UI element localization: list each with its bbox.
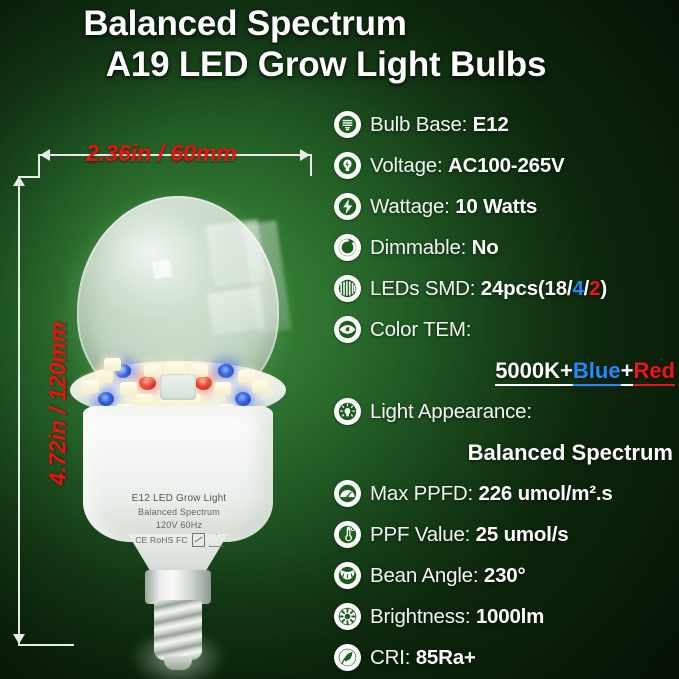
spec-label: Dimmable: No bbox=[370, 236, 499, 260]
width-arrow-right bbox=[300, 149, 310, 161]
height-arrow-bottom bbox=[13, 634, 25, 644]
height-dim-line bbox=[18, 176, 20, 646]
spec-row-wattage: Wattage: 10 Watts bbox=[334, 186, 679, 227]
spec-label: Brightness: 1000lm bbox=[370, 605, 544, 629]
height-arrow-top bbox=[13, 176, 25, 186]
spec-row-color-tem: Color TEM: bbox=[334, 309, 679, 350]
spec-label: LEDs SMD: 24pcs(18/4/2) bbox=[370, 277, 607, 301]
spec-label: PPF Value: 25 umol/s bbox=[370, 523, 568, 547]
width-dimension-label: 2.36in / 60mm bbox=[86, 140, 237, 167]
spec-row-voltage: Voltage: AC100-265V bbox=[334, 145, 679, 186]
spec-label: Voltage: AC100-265V bbox=[370, 154, 565, 178]
spec-row-max-ppfd: Max PPFD: 226 umol/m².s bbox=[334, 473, 679, 514]
dimension-annotations: 2.36in / 60mm 4.72in / 120mm bbox=[0, 0, 340, 679]
spec-label: Bulb Base: E12 bbox=[370, 113, 509, 137]
spec-label: Color TEM: bbox=[370, 318, 471, 342]
light-appearance-value-row: Balanced Spectrum bbox=[334, 432, 679, 473]
spec-label: Bean Angle: 230° bbox=[370, 564, 525, 588]
spec-label: Wattage: 10 Watts bbox=[370, 195, 537, 219]
height-dimension-label: 4.72in / 120mm bbox=[44, 322, 71, 486]
color-tem-value: 5000K+Blue+Red bbox=[495, 358, 675, 384]
spec-row-leds-smd: LEDs SMD: 24pcs(18/4/2) bbox=[334, 268, 679, 309]
width-arrow-left bbox=[40, 149, 50, 161]
color-tem-value-row: 5000K+Blue+Red bbox=[334, 350, 679, 391]
spec-row-cri: CRI: 85Ra+ bbox=[334, 637, 679, 678]
spec-label: Light Appearance: bbox=[370, 400, 532, 424]
height-corner-bottom bbox=[18, 644, 74, 646]
spec-list: Bulb Base: E12 Voltage: AC100-265V Watta… bbox=[334, 104, 679, 679]
spec-row-beam-angle: Bean Angle: 230° bbox=[334, 555, 679, 596]
light-appearance-value: Balanced Spectrum bbox=[468, 440, 673, 466]
spec-row-dimmable: Dimmable: No bbox=[334, 227, 679, 268]
spec-row-ppf-value: PPF Value: 25 umol/s bbox=[334, 514, 679, 555]
spec-row-light-appearance: Light Appearance: bbox=[334, 391, 679, 432]
width-ext-right bbox=[310, 154, 312, 176]
product-infographic: Balanced Spectrum A19 LED Grow Light Bul… bbox=[0, 0, 679, 679]
leds-smd-value: 24pcs(18/4/2) bbox=[481, 277, 607, 300]
spec-row-brightness: Brightness: 1000lm bbox=[334, 596, 679, 637]
spec-row-bulb-base: Bulb Base: E12 bbox=[334, 104, 679, 145]
spec-label: CRI: 85Ra+ bbox=[370, 646, 476, 670]
spec-label: Max PPFD: 226 umol/m².s bbox=[370, 482, 613, 506]
